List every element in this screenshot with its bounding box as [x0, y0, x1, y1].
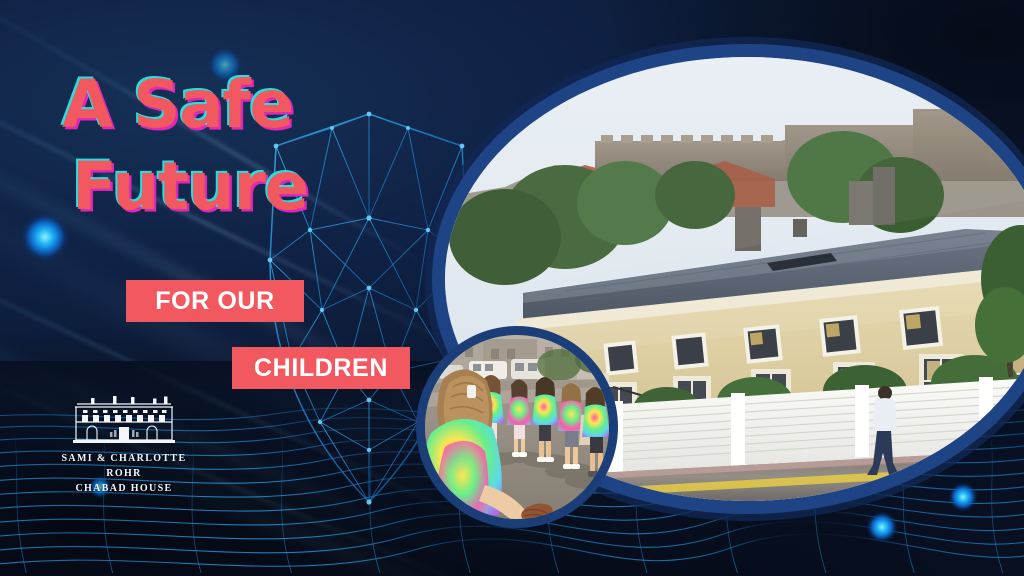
glow-dot: [867, 512, 897, 542]
logo-line-2: CHABAD HOUSE: [44, 481, 204, 496]
logo-line-1: SAMI & CHARLOTTE ROHR: [44, 451, 204, 481]
badge-for-our: FOR OUR: [126, 280, 304, 322]
promo-banner: A Safe Future FOR OUR CHILDREN: [0, 0, 1024, 576]
children-group-photo: [425, 335, 609, 519]
chabad-house-building-icon: [71, 392, 177, 444]
badge-children: CHILDREN: [232, 347, 410, 389]
glow-dot: [22, 214, 68, 260]
organization-logo: SAMI & CHARLOTTE ROHR CHABAD HOUSE: [44, 392, 204, 496]
glow-dot: [949, 483, 977, 511]
inset-photo-circle: [416, 326, 618, 528]
glow-dot: [208, 48, 242, 82]
